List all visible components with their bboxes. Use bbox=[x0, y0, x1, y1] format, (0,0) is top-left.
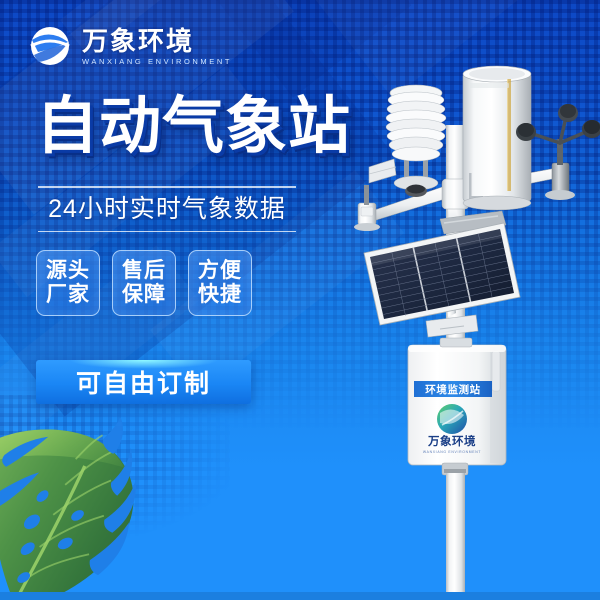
product-banner: 环境监测站 万象环境 WANXIANG ENVIRONMENT bbox=[0, 0, 600, 600]
monstera-leaf-decoration bbox=[0, 418, 203, 600]
badge-line-2: 保障 bbox=[122, 283, 166, 307]
feature-badge-group: 源头 厂家 售后 保障 方便 快捷 bbox=[36, 250, 252, 316]
badge-line-2: 厂家 bbox=[46, 283, 90, 307]
logo-english-name: WANXIANG ENVIRONMENT bbox=[82, 58, 232, 66]
solar-panel bbox=[364, 223, 520, 337]
cta-label: 可自由订制 bbox=[76, 364, 211, 400]
page-title: 自动气象站 bbox=[36, 96, 351, 158]
badge-line-1: 源头 bbox=[46, 259, 90, 283]
bottom-accent-strip bbox=[0, 592, 600, 600]
customization-cta-button[interactable]: 可自由订制 bbox=[36, 360, 251, 404]
globe-swoosh-logo-icon bbox=[26, 22, 74, 70]
badge-line-1: 售后 bbox=[122, 259, 166, 283]
wind-vane-sensor bbox=[354, 159, 396, 231]
environment-monitoring-cabinet: 环境监测站 万象环境 WANXIANG ENVIRONMENT bbox=[408, 338, 506, 475]
feature-badge-after-sales[interactable]: 售后 保障 bbox=[112, 250, 176, 316]
weather-station-illustration: 环境监测站 万象环境 WANXIANG ENVIRONMENT bbox=[330, 55, 600, 600]
svg-text:WANXIANG ENVIRONMENT: WANXIANG ENVIRONMENT bbox=[423, 450, 481, 454]
cabinet-band-label: 环境监测站 bbox=[425, 383, 481, 396]
subtitle-block: 24小时实时气象数据 bbox=[38, 186, 296, 232]
badge-line-2: 快捷 bbox=[198, 283, 242, 307]
svg-text:万象环境: 万象环境 bbox=[427, 434, 476, 448]
feature-badge-source-factory[interactable]: 源头 厂家 bbox=[36, 250, 100, 316]
feature-badge-convenient[interactable]: 方便 快捷 bbox=[188, 250, 252, 316]
brand-logo: 万象环境 WANXIANG ENVIRONMENT bbox=[26, 22, 232, 70]
badge-line-1: 方便 bbox=[198, 259, 242, 283]
subtitle-text: 24小时实时气象数据 bbox=[38, 188, 296, 231]
logo-chinese-name: 万象环境 bbox=[82, 28, 232, 54]
radiation-shield-sensor bbox=[386, 85, 446, 197]
subtitle-rule-bottom bbox=[38, 231, 296, 233]
